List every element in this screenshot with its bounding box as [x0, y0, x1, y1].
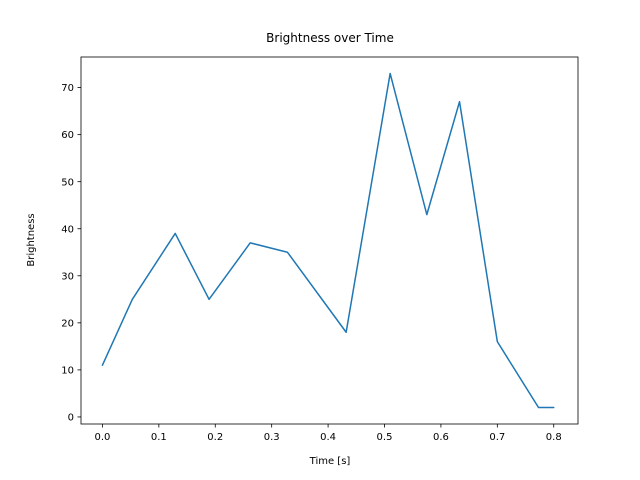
x-tick-label: 0.4	[320, 432, 336, 443]
x-tick-label: 0.6	[433, 432, 449, 443]
x-tick-label: 0.2	[207, 432, 223, 443]
y-tick-label: 20	[61, 318, 74, 329]
y-tick-label: 0	[68, 413, 74, 424]
matplotlib-figure: Brightness over Time 0.00.10.20.30.40.50…	[0, 0, 640, 480]
chart-title: Brightness over Time	[266, 31, 394, 45]
x-tick-label: 0.0	[94, 432, 110, 443]
y-tick-label: 70	[61, 83, 74, 94]
x-tick-label: 0.5	[377, 432, 393, 443]
y-tick-label: 60	[61, 130, 74, 141]
x-tick-label: 0.7	[489, 432, 505, 443]
y-tick-label: 30	[61, 271, 74, 282]
plot-canvas: Brightness over Time 0.00.10.20.30.40.50…	[0, 0, 640, 480]
x-tick-label: 0.1	[151, 432, 167, 443]
x-axis-label: Time [s]	[309, 456, 351, 467]
x-tick-label: 0.3	[264, 432, 280, 443]
y-tick-label: 40	[61, 224, 74, 235]
y-tick-label: 50	[61, 177, 74, 188]
y-axis-label: Brightness	[26, 213, 37, 266]
y-tick-label: 10	[61, 365, 74, 376]
x-tick-label: 0.8	[546, 432, 562, 443]
